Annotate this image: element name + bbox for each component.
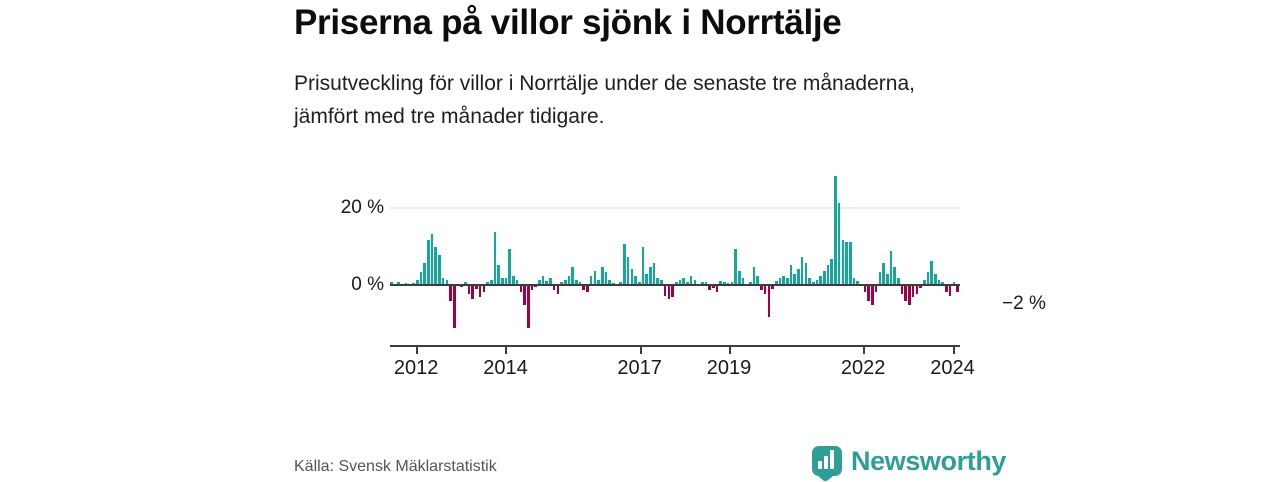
bar: [497, 265, 500, 284]
bar: [734, 249, 737, 284]
bar: [494, 232, 497, 284]
bar: [893, 267, 896, 284]
bar: [594, 271, 597, 284]
bar: [420, 272, 423, 284]
bar: [645, 274, 648, 284]
bar: [934, 274, 937, 284]
bar: [427, 240, 430, 284]
bar: [912, 284, 915, 297]
bar: [738, 271, 741, 284]
brand-name: Newsworthy: [851, 448, 1006, 475]
bar: [523, 284, 526, 305]
bar: [793, 274, 796, 284]
logo-bar-2: [824, 456, 828, 469]
bar: [601, 267, 604, 284]
x-tick-label-2017: 2017: [617, 357, 662, 380]
y-tick-label-20: 20 %: [341, 197, 384, 219]
bar: [819, 276, 822, 284]
bar: [649, 267, 652, 284]
y-tick-label-0: 0 %: [351, 274, 384, 296]
bar: [790, 265, 793, 284]
brand-logo: Newsworthy: [812, 443, 1006, 479]
x-tick-2024: [953, 345, 955, 354]
plot-area: −2 %: [390, 165, 960, 345]
bar: [927, 272, 930, 284]
bar: [623, 244, 626, 284]
bar: [845, 242, 848, 284]
x-tick-2012: [416, 345, 418, 354]
bar: [438, 255, 441, 284]
logo-bar-dot: [830, 450, 834, 453]
bar: [527, 284, 530, 328]
bar: [838, 203, 841, 284]
bar: [568, 276, 571, 284]
y-axis-labels: 20 % 0 %: [294, 165, 384, 345]
zero-baseline: [390, 284, 960, 286]
bar: [890, 251, 893, 284]
bar: [756, 276, 759, 284]
x-tick-label-2024: 2024: [930, 357, 975, 380]
bar: [571, 267, 574, 284]
bar: [653, 263, 656, 284]
bar: [449, 284, 452, 301]
bar: [634, 276, 637, 284]
x-tick-label-2022: 2022: [841, 357, 886, 380]
bar: [668, 284, 671, 299]
x-tick-label-2019: 2019: [707, 357, 752, 380]
bar-chart: 20 % 0 % −2 % 201220142017201920222024: [294, 165, 984, 380]
newsworthy-bar-chart-bubble-icon: [812, 446, 842, 476]
x-tick-2017: [640, 345, 642, 354]
bar: [690, 276, 693, 284]
bar-series: [390, 165, 960, 345]
bar: [605, 272, 608, 284]
bar: [879, 272, 882, 284]
bar: [797, 269, 800, 284]
bar: [834, 176, 837, 284]
bar: [886, 274, 889, 284]
logo-bar-3: [830, 452, 834, 469]
bar: [904, 284, 907, 301]
last-value-annotation: −2 %: [1002, 293, 1046, 315]
bar: [453, 284, 456, 328]
bar: [842, 240, 845, 284]
bar: [871, 284, 874, 305]
bar: [782, 276, 785, 284]
page-title: Priserna på villor sjönk i Norrtälje: [294, 2, 1194, 44]
x-tick-2014: [505, 345, 507, 354]
bar: [882, 263, 885, 284]
bar: [801, 257, 804, 284]
bar: [867, 284, 870, 301]
logo-bar-1: [818, 461, 822, 469]
bar: [542, 276, 545, 284]
bar: [753, 267, 756, 284]
source-note: Källa: Svensk Mäklarstatistik: [294, 458, 497, 476]
bar: [434, 247, 437, 284]
x-tick-2022: [863, 345, 865, 354]
bar: [930, 261, 933, 284]
bar: [827, 265, 830, 284]
bar: [642, 247, 645, 284]
bar: [431, 234, 434, 284]
bar: [768, 284, 771, 317]
bar: [671, 284, 674, 297]
bar: [805, 263, 808, 284]
bar: [908, 284, 911, 305]
bar: [631, 269, 634, 284]
x-tick-label-2012: 2012: [394, 357, 439, 380]
bar: [512, 276, 515, 284]
bar: [423, 263, 426, 284]
bar: [849, 242, 852, 284]
bar: [471, 284, 474, 299]
bar: [508, 249, 511, 284]
bar: [590, 276, 593, 284]
page-subtitle: Prisutveckling för villor i Norrtälje un…: [294, 68, 954, 133]
x-axis-line: [390, 345, 960, 347]
bar: [479, 284, 482, 297]
bar: [830, 259, 833, 284]
x-tick-2019: [729, 345, 731, 354]
bar: [627, 257, 630, 284]
bar: [823, 271, 826, 284]
x-tick-label-2014: 2014: [483, 357, 528, 380]
infographic-page: Priserna på villor sjönk i Norrtälje Pri…: [0, 0, 1280, 480]
